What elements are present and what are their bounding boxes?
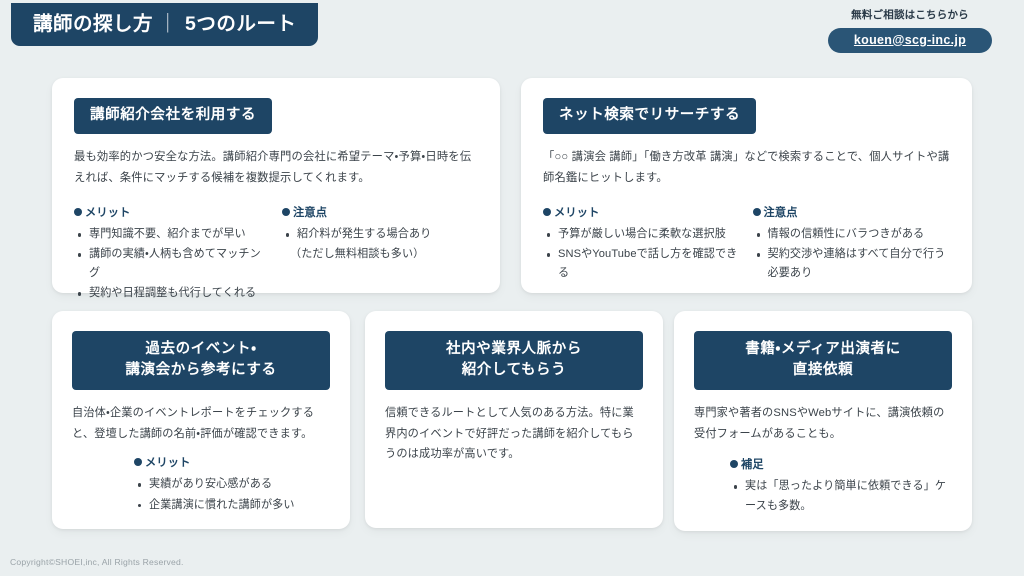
card-description: 専門家や著者のSNSやWebサイトに、講演依頼の受付フォームがあることも。 <box>694 403 952 444</box>
merit-column: メリット 専門知識不要、紹介までが早い 講師の実績・人柄も含めてマッチング 契約… <box>74 204 280 304</box>
caution-label-row: 注意点 <box>753 204 951 220</box>
list-item: SNSやYouTubeで話し方を確認できる <box>543 245 741 283</box>
merit-label-row: メリット <box>134 454 330 470</box>
list-item: 企業講演に慣れた講師が多い <box>134 496 330 515</box>
card-description: 「○○ 講演会 講師」「働き方改革 講演」などで検索することで、個人サイトや講師… <box>543 147 950 188</box>
caution-list: 情報の信頼性にバラつきがある 契約交渉や連絡はすべて自分で行う必要あり <box>753 225 951 283</box>
contact-email-button[interactable]: kouen@scg-inc.jp <box>828 28 992 53</box>
page-title-main: 講師の探し方 <box>33 13 153 35</box>
list-item: 契約交渉や連絡はすべて自分で行う必要あり <box>753 245 951 283</box>
card-referral-company: 講師紹介会社を利用する 最も効率的かつ安全な方法。講師紹介専門の会社に希望テーマ… <box>52 78 500 293</box>
merit-column: メリット 予算が厳しい場合に柔軟な選択肢 SNSやYouTubeで話し方を確認で… <box>543 204 751 284</box>
caution-list: 紹介料が発生する場合あり （ただし無料相談も多い） <box>282 225 478 264</box>
list-item: 予算が厳しい場合に柔軟な選択肢 <box>543 225 741 244</box>
merit-label: メリット <box>145 454 191 470</box>
card-heading-line2: 紹介してもらう <box>462 362 567 378</box>
card-description: 自治体・企業のイベントレポートをチェックすると、登壇した講師の名前・評価が確認で… <box>72 403 330 444</box>
page-title: 講師の探し方｜5つのルート <box>11 3 318 46</box>
merit-column: メリット 実績があり安心感がある 企業講演に慣れた講師が多い <box>72 454 330 514</box>
note-list: 実は「思ったより簡単に依頼できる」ケースも多数。 <box>730 477 952 515</box>
card-description: 最も効率的かつ安全な方法。講師紹介専門の会社に希望テーマ・予算・日時を伝えれば、… <box>74 147 478 188</box>
caution-label: 注意点 <box>764 204 798 220</box>
card-heading: ネット検索でリサーチする <box>543 98 756 134</box>
merit-list: 専門知識不要、紹介までが早い 講師の実績・人柄も含めてマッチング 契約や日程調整… <box>74 225 270 303</box>
card-heading-line2: 講演会から参考にする <box>125 362 276 378</box>
footer-copyright: Copyright©SHOEI,inc, All Rights Reserved… <box>10 557 184 567</box>
card-direct-request: 書籍・メディア出演者に 直接依頼 専門家や著者のSNSやWebサイトに、講演依頼… <box>674 311 972 531</box>
note-label-row: 補足 <box>730 456 952 472</box>
list-item: 情報の信頼性にバラつきがある <box>753 225 951 244</box>
note-label: 補足 <box>741 456 764 472</box>
merit-list: 実績があり安心感がある 企業講演に慣れた講師が多い <box>134 475 330 514</box>
caution-column: 注意点 紹介料が発生する場合あり （ただし無料相談も多い） <box>280 204 478 304</box>
bullet-dot-icon <box>74 208 82 216</box>
merit-label-row: メリット <box>74 204 270 220</box>
merit-caution-columns: メリット 専門知識不要、紹介までが早い 講師の実績・人柄も含めてマッチング 契約… <box>74 204 478 304</box>
card-heading: 過去のイベント・ 講演会から参考にする <box>72 331 330 390</box>
list-item: 契約や日程調整も代行してくれる <box>74 284 270 303</box>
card-description: 信頼できるルートとして人気のある方法。特に業界内のイベントで好評だった講師を紹介… <box>385 403 643 465</box>
list-item: 紹介料が発生する場合あり <box>282 225 478 244</box>
merit-label: メリット <box>554 204 600 220</box>
list-item: 専門知識不要、紹介までが早い <box>74 225 270 244</box>
page-title-sub: 5つのルート <box>185 13 296 35</box>
card-internal-network: 社内や業界人脈から 紹介してもらう 信頼できるルートとして人気のある方法。特に業… <box>365 311 663 528</box>
list-item: 実績があり安心感がある <box>134 475 330 494</box>
bullet-dot-icon <box>282 208 290 216</box>
card-heading-line1: 過去のイベント・ <box>145 341 256 357</box>
card-heading: 書籍・メディア出演者に 直接依頼 <box>694 331 952 390</box>
card-heading-line2: 直接依頼 <box>793 362 853 378</box>
merit-list: 予算が厳しい場合に柔軟な選択肢 SNSやYouTubeで話し方を確認できる <box>543 225 741 283</box>
list-item: 実は「思ったより簡単に依頼できる」ケースも多数。 <box>730 477 952 515</box>
merit-caution-columns: メリット 予算が厳しい場合に柔軟な選択肢 SNSやYouTubeで話し方を確認で… <box>543 204 950 284</box>
card-heading: 講師紹介会社を利用する <box>74 98 272 134</box>
card-past-events: 過去のイベント・ 講演会から参考にする 自治体・企業のイベントレポートをチェック… <box>52 311 350 529</box>
page-title-separator: ｜ <box>158 13 178 35</box>
merit-label: メリット <box>85 204 131 220</box>
merit-label-row: メリット <box>543 204 741 220</box>
caution-column: 注意点 情報の信頼性にバラつきがある 契約交渉や連絡はすべて自分で行う必要あり <box>751 204 951 284</box>
card-net-search: ネット検索でリサーチする 「○○ 講演会 講師」「働き方改革 講演」などで検索す… <box>521 78 972 293</box>
list-item: 講師の実績・人柄も含めてマッチング <box>74 245 270 283</box>
card-heading-line1: 社内や業界人脈から <box>446 341 582 357</box>
bullet-dot-icon <box>134 458 142 466</box>
card-heading: 社内や業界人脈から 紹介してもらう <box>385 331 643 390</box>
note-column: 補足 実は「思ったより簡単に依頼できる」ケースも多数。 <box>694 456 952 515</box>
bullet-dot-icon <box>730 460 738 468</box>
bullet-dot-icon <box>543 208 551 216</box>
contact-block: 無料ご相談はこちらから kouen@scg-inc.jp <box>810 9 1010 53</box>
card-heading-line1: 書籍・メディア出演者に <box>745 341 901 357</box>
bullet-dot-icon <box>753 208 761 216</box>
caution-label: 注意点 <box>293 204 327 220</box>
slide-header: 講師の探し方｜5つのルート 無料ご相談はこちらから kouen@scg-inc.… <box>0 0 1024 68</box>
contact-lead-text: 無料ご相談はこちらから <box>810 9 1010 23</box>
caution-label-row: 注意点 <box>282 204 478 220</box>
caution-note: （ただし無料相談も多い） <box>282 245 478 264</box>
